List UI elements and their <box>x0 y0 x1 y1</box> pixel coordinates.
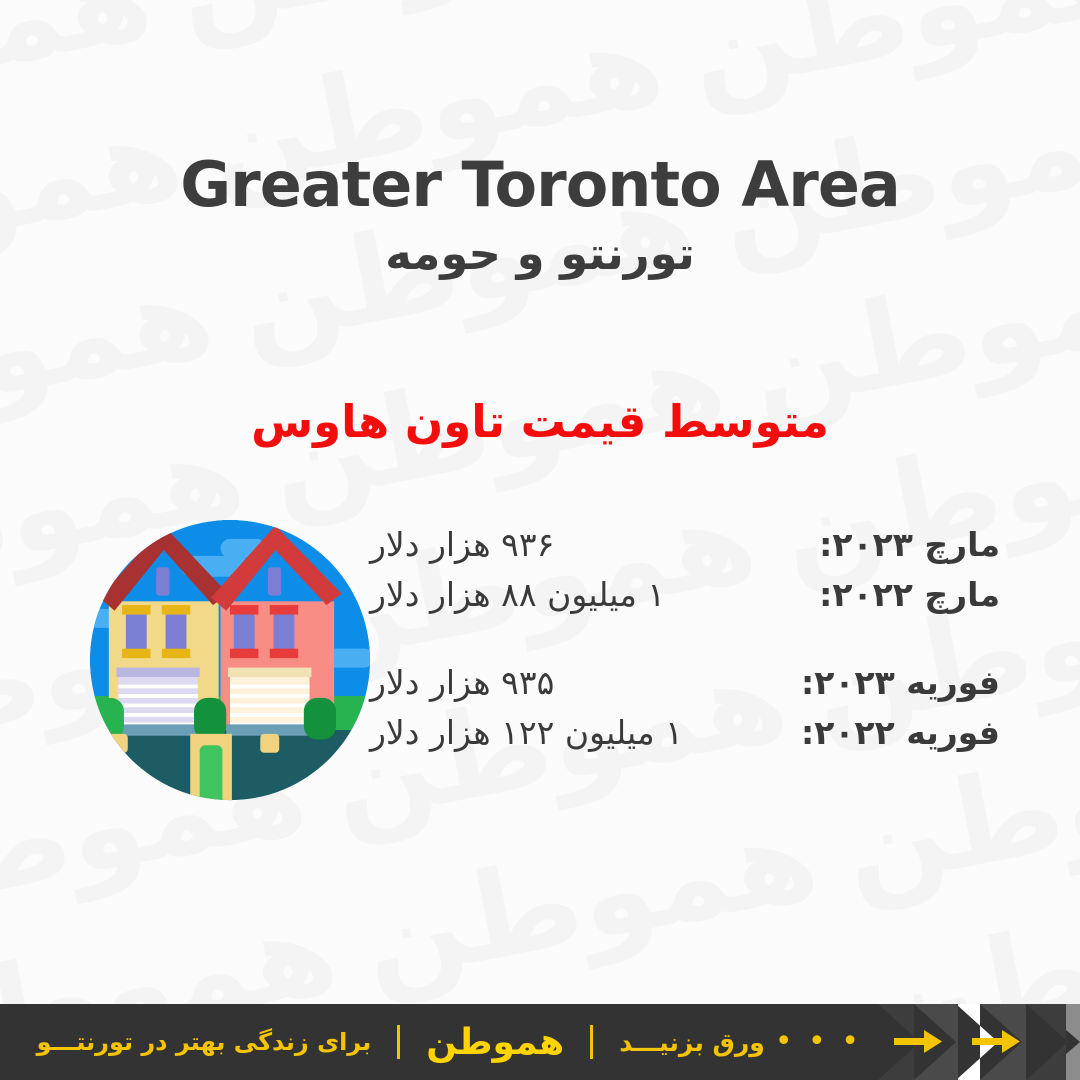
subject-heading: متوسط قیمت تاون هاوس <box>0 395 1080 448</box>
stats-panel: مارچ ۲۰۲۳: ۹۳۶ هزار دلار مارچ ۲۰۲۲: ۱ می… <box>360 520 1000 759</box>
footer-divider <box>590 1025 593 1059</box>
page-title-persian: تورنتو و حومه <box>0 227 1080 280</box>
townhouse-illustration <box>88 518 372 802</box>
stat-value: ۱ میلیون ۸۸ هزار دلار <box>360 570 819 620</box>
poster-canvas: هموطن هموطن هموطن هموطن هموطن هموطن هموط… <box>0 0 1080 1080</box>
stat-group-february: فوریه ۲۰۲۳: ۹۳۵ هزار دلار فوریه ۲۰۲۲: ۱ … <box>360 658 1000 758</box>
stat-value: ۹۳۵ هزار دلار <box>360 658 801 708</box>
page-title-english: Greater Toronto Area <box>0 152 1080 217</box>
footer-divider <box>397 1025 400 1059</box>
stat-label: مارچ ۲۰۲۳: <box>819 520 1000 570</box>
brand-tagline: برای زندگی بهتر در تورنتـــو <box>37 1028 372 1056</box>
stat-label: فوریه ۲۰۲۳: <box>801 658 1000 708</box>
stat-row: مارچ ۲۰۲۲: ۱ میلیون ۸۸ هزار دلار <box>360 570 1000 620</box>
ellipsis-dots: • • • <box>775 1027 862 1057</box>
stat-value: ۹۳۶ هزار دلار <box>360 520 819 570</box>
swipe-prompt: ورق بزنیـــد <box>619 1028 765 1057</box>
stat-row: مارچ ۲۰۲۳: ۹۳۶ هزار دلار <box>360 520 1000 570</box>
footer-content: • • • ورق بزنیـــد هموطن برای زندگی بهتر… <box>0 1004 1080 1080</box>
brand-logo[interactable]: هموطن <box>426 1022 564 1063</box>
stat-row: فوریه ۲۰۲۳: ۹۳۵ هزار دلار <box>360 658 1000 708</box>
footer-bar: • • • ورق بزنیـــد هموطن برای زندگی بهتر… <box>0 1004 1080 1080</box>
stat-label: مارچ ۲۰۲۲: <box>819 570 1000 620</box>
stat-label: فوریه ۲۰۲۲: <box>801 708 1000 758</box>
stat-value: ۱ میلیون ۱۲۲ هزار دلار <box>360 708 801 758</box>
poster-content: Greater Toronto Area تورنتو و حومه متوسط… <box>0 0 1080 1080</box>
stat-group-march: مارچ ۲۰۲۳: ۹۳۶ هزار دلار مارچ ۲۰۲۲: ۱ می… <box>360 520 1000 620</box>
stat-row: فوریه ۲۰۲۲: ۱ میلیون ۱۲۲ هزار دلار <box>360 708 1000 758</box>
title-block: Greater Toronto Area تورنتو و حومه <box>0 152 1080 280</box>
